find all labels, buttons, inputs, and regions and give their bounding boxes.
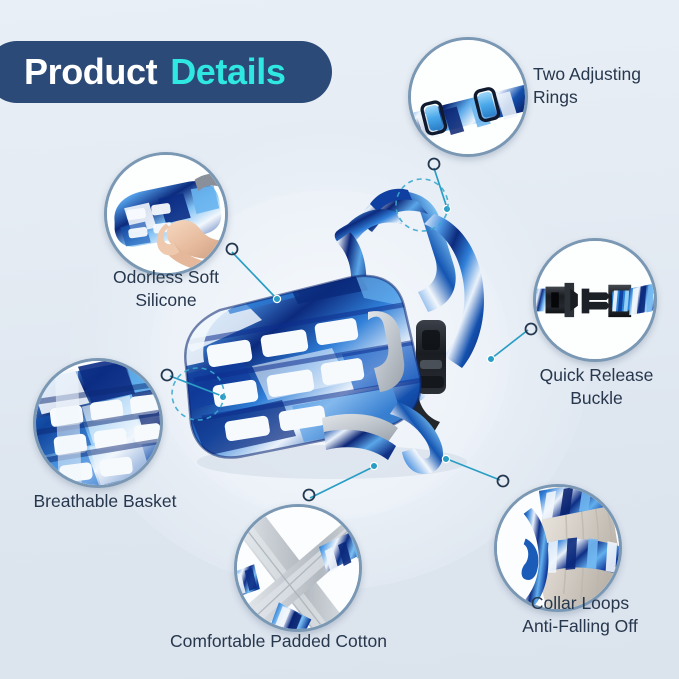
- crossed-padded-straps-icon[interactable]: [234, 504, 362, 632]
- strap-with-two-sliders-icon[interactable]: [408, 37, 528, 157]
- hand-squeezing-muzzle-icon[interactable]: [104, 152, 228, 276]
- callout-label-cotton: Comfortable Padded Cotton: [160, 630, 397, 653]
- page-title-primary: Product: [24, 51, 157, 93]
- side-release-buckle-icon[interactable]: [533, 238, 657, 362]
- page-title-accent: Details: [170, 51, 285, 93]
- page-title-banner: Product Details: [0, 41, 332, 103]
- basket-lattice-closeup-icon[interactable]: [33, 358, 163, 488]
- callout-label-silicone: Odorless Soft Silicone: [86, 266, 246, 313]
- callout-label-rings: Two Adjusting Rings: [533, 63, 679, 110]
- callout-label-buckle: Quick Release Buckle: [515, 364, 678, 411]
- callout-label-basket: Breathable Basket: [10, 490, 200, 513]
- callout-label-collar: Collar Loops Anti-Falling Off: [487, 592, 673, 639]
